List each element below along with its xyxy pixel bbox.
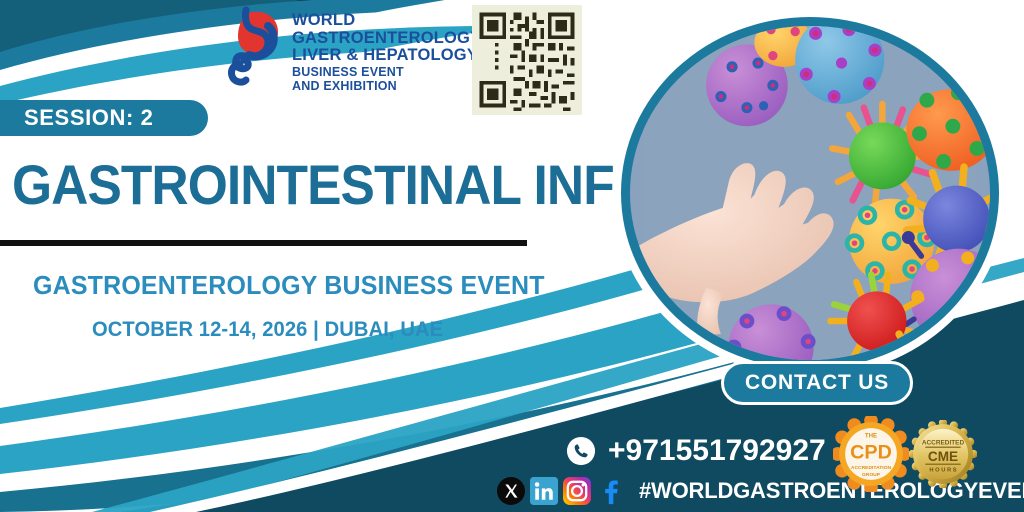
conference-banner: WORLD GASTROENTEROLOGY LIVER & HEPATOLOG… (0, 0, 1024, 512)
facebook-icon[interactable] (596, 477, 624, 505)
session-badge: SESSION: 2 (0, 100, 208, 136)
x-twitter-icon[interactable] (497, 477, 525, 505)
logo-line-1: WORLD (292, 12, 481, 29)
logo-line-4: BUSINESS EVENT (292, 66, 481, 79)
event-subtitle: GASTROENTEROLOGY BUSINESS EVENT (33, 270, 545, 301)
cpd-badge-sub2: GROUP (862, 472, 881, 478)
cme-badge-main: CME (928, 449, 958, 464)
stomach-liver-logo-icon (222, 6, 284, 94)
logo-line-5: AND EXHIBITION (292, 80, 481, 93)
cme-badge-top: ACCREDITED (922, 439, 965, 446)
cpd-badge-sub1: ACCREDITATION (851, 465, 892, 471)
cpd-badge-main: CPD (850, 442, 892, 464)
instagram-icon[interactable] (563, 477, 591, 505)
qr-code-icon (472, 5, 582, 115)
hero-photo (613, 9, 1007, 377)
hand-with-virus-models-image (630, 26, 990, 360)
session-label: SESSION: 2 (24, 105, 153, 131)
contact-us-label: CONTACT US (745, 371, 889, 395)
logo-line-3: LIVER & HEPATOLOGY (292, 47, 481, 64)
qr-code[interactable] (472, 5, 582, 115)
logo-wordmark: WORLD GASTROENTEROLOGY LIVER & HEPATOLOG… (292, 6, 481, 93)
contact-us-button[interactable]: CONTACT US (721, 361, 913, 405)
cpd-badge-top: THE (865, 432, 877, 439)
event-date-location: OCTOBER 12-14, 2026 | DUBAI, UAE (92, 318, 443, 342)
event-logo: WORLD GASTROENTEROLOGY LIVER & HEPATOLOG… (222, 6, 481, 94)
logo-line-2: GASTROENTEROLOGY (292, 30, 481, 47)
linkedin-icon[interactable] (530, 477, 558, 505)
phone-contact[interactable]: +971551792927 (566, 434, 826, 468)
phone-icon (566, 436, 596, 466)
cme-badge-sub1: H O U R S (929, 468, 956, 474)
title-divider (0, 240, 527, 246)
cme-hours-badge: ACCREDITED CME H O U R S (909, 420, 977, 488)
cpd-accreditation-badge: THE CPD ACCREDITATION GROUP (833, 416, 909, 492)
phone-number: +971551792927 (608, 434, 826, 468)
